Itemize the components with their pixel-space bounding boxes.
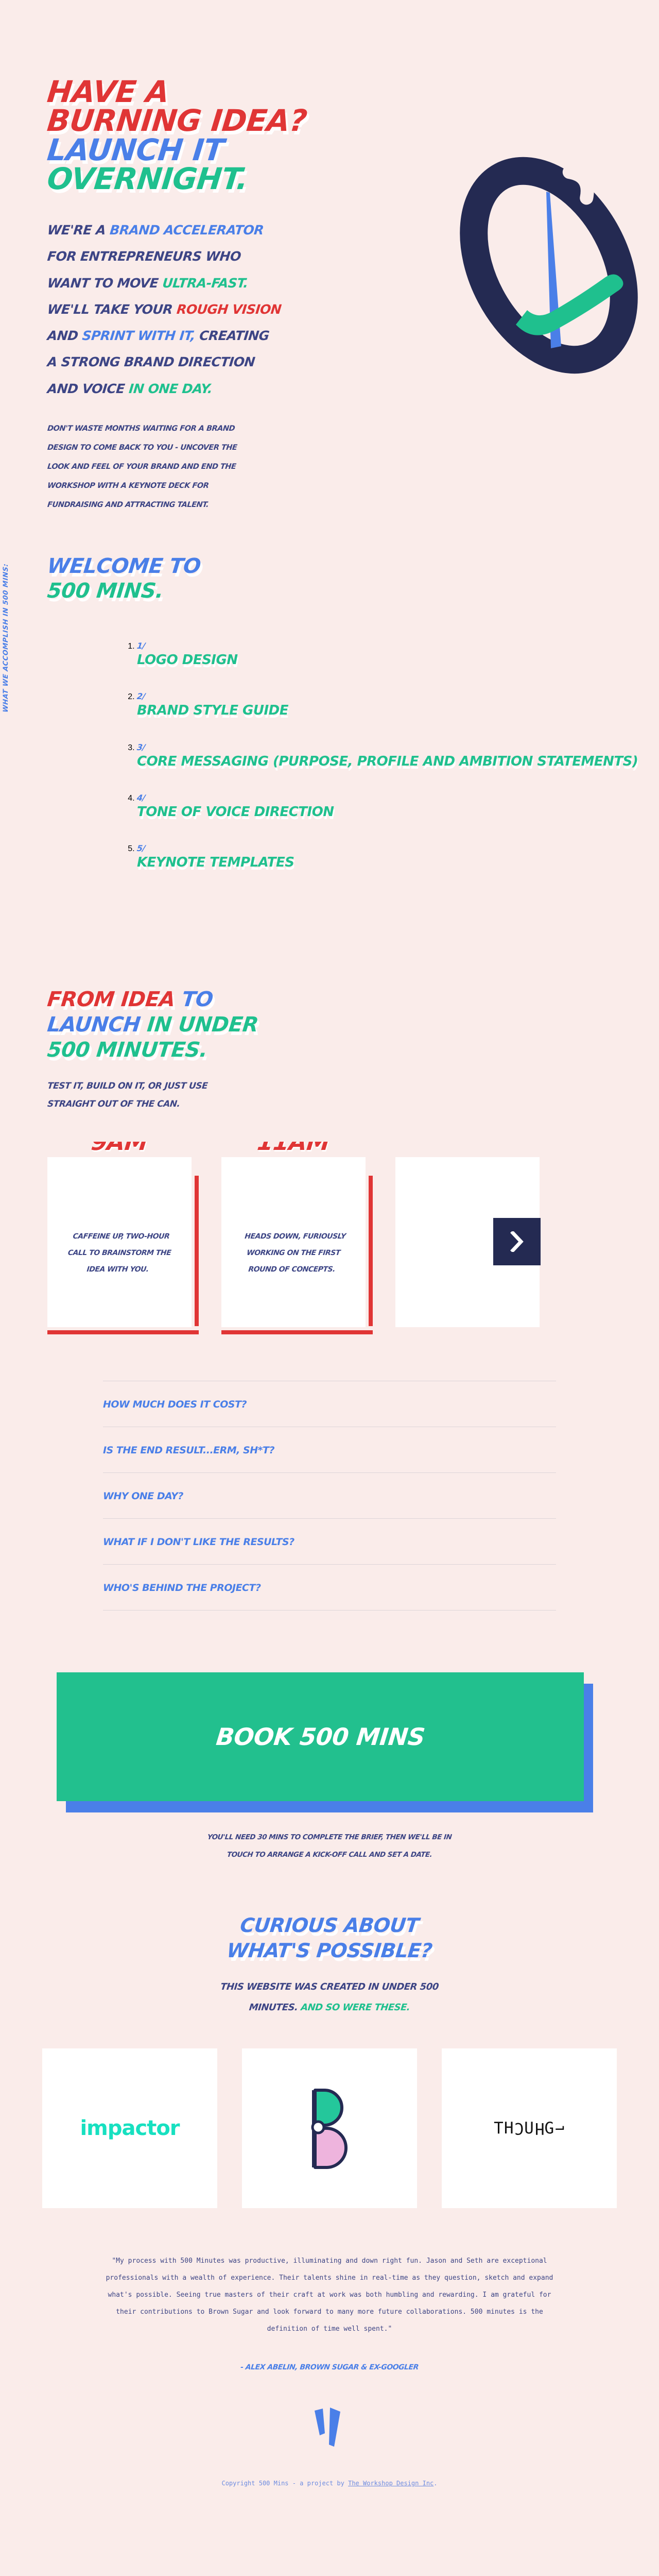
deliverable-label: BRAND STYLE GUIDE bbox=[137, 703, 288, 718]
faq-item[interactable]: WHY ONE DAY? bbox=[103, 1472, 556, 1518]
faq-question: IS THE END RESULT...ERM, SH*T? bbox=[103, 1445, 274, 1456]
page-title: HAVE A BURNING IDEA? LAUNCH IT OVERNIGHT… bbox=[0, 77, 659, 193]
welcome-line-2: 500 MINS. bbox=[46, 579, 659, 604]
deliverable-label: TONE OF VOICE DIRECTION bbox=[137, 804, 334, 820]
faq-question: WHY ONE DAY? bbox=[103, 1490, 183, 1502]
w-mark-logo bbox=[311, 2406, 348, 2453]
intro-segment: BRAND ACCELERATOR bbox=[109, 223, 265, 238]
cta-section: BOOK 500 MINS bbox=[0, 1654, 659, 1824]
intro-small-line: DON'T WASTE MONTHS WAITING FOR A BRAND bbox=[46, 419, 361, 438]
list-item: 3/ CORE MESSAGING (PURPOSE, PROFILE AND … bbox=[137, 742, 659, 770]
faq-item[interactable]: IS THE END RESULT...ERM, SH*T? bbox=[103, 1427, 556, 1472]
from-idea-line-3: 500 MINUTES. bbox=[46, 1038, 659, 1063]
intro-segment: WE'RE A bbox=[46, 223, 110, 238]
brown-sugar-b-logo bbox=[305, 2087, 354, 2170]
intro-line: AND SPRINT WITH IT, CREATING bbox=[46, 323, 659, 349]
curious-subcopy: THIS WEBSITE WAS CREATED IN UNDER 500 MI… bbox=[0, 1977, 659, 2019]
intro-paragraph: WE'RE A BRAND ACCELERATOR FOR ENTREPRENE… bbox=[47, 217, 659, 402]
intro-small-line: DESIGN TO COME BACK TO YOU - UNCOVER THE bbox=[46, 438, 361, 457]
from-idea-line-1b: TO bbox=[181, 988, 214, 1011]
deliverables-list: 1/ LOGO DESIGN 2/ BRAND STYLE GUIDE 3/ C… bbox=[137, 641, 659, 871]
faq-item[interactable]: HOW MUCH DOES IT COST? bbox=[103, 1381, 556, 1427]
faq-item[interactable]: WHO'S BEHIND THE PROJECT? bbox=[103, 1564, 556, 1611]
deliverable-label: CORE MESSAGING (PURPOSE, PROFILE AND AMB… bbox=[137, 754, 638, 769]
timeline-card-time: 9AM bbox=[46, 1142, 193, 1154]
chevron-right-icon bbox=[510, 1231, 524, 1252]
welcome-line-1: WELCOME TO bbox=[46, 554, 659, 579]
client-logo-grid: impactor THCUHG⌐ bbox=[0, 2048, 659, 2208]
workshop-design-link[interactable]: The Workshop Design Inc bbox=[348, 2480, 433, 2487]
curious-line-1: CURIOUS ABOUT bbox=[0, 1913, 659, 1938]
testimonial-section: "My process with 500 Minutes was product… bbox=[0, 2252, 659, 2372]
hero-line-1: HAVE A bbox=[46, 77, 659, 106]
list-item: 2/ BRAND STYLE GUIDE bbox=[137, 691, 659, 719]
timeline-card-time: 11AM bbox=[220, 1142, 367, 1154]
intro-copy: WE'RE A BRAND ACCELERATOR FOR ENTREPRENE… bbox=[0, 217, 659, 402]
list-item: 4/ TONE OF VOICE DIRECTION bbox=[137, 793, 659, 821]
from-idea-sub-line: TEST IT, BUILD ON IT, OR JUST USE bbox=[46, 1077, 659, 1096]
intro-segment: WE'LL TAKE YOUR bbox=[46, 302, 177, 317]
deliverable-number: 2/ bbox=[136, 691, 659, 701]
intro-segment: A STRONG BRAND DIRECTION bbox=[46, 354, 255, 369]
intro-line: WE'RE A BRAND ACCELERATOR bbox=[46, 217, 659, 243]
from-idea-subcopy: TEST IT, BUILD ON IT, OR JUST USE STRAIG… bbox=[0, 1077, 659, 1114]
deliverable-number: 1/ bbox=[136, 641, 659, 651]
logo-card-impactor[interactable]: impactor bbox=[42, 2048, 217, 2208]
cta-note-line: TOUCH TO ARRANGE A KICK-OFF CALL AND SET… bbox=[112, 1846, 547, 1864]
intro-line: AND VOICE IN ONE DAY. bbox=[46, 376, 659, 402]
logo-card-thought[interactable]: THCUHG⌐ bbox=[442, 2048, 617, 2208]
curious-sub-line-2: MINUTES. AND SO WERE THESE. bbox=[107, 1997, 552, 2019]
intro-segment: WANT TO MOVE bbox=[46, 276, 163, 291]
intro-segment: CREATING bbox=[195, 328, 270, 343]
from-idea-sub-line: STRAIGHT OUT OF THE CAN. bbox=[46, 1095, 659, 1114]
intro-line: A STRONG BRAND DIRECTION bbox=[46, 349, 659, 375]
welcome-heading: WELCOME TO 500 MINS. bbox=[0, 554, 659, 604]
intro-segment: FOR ENTREPRENEURS WHO bbox=[46, 249, 241, 264]
intro-segment: SPRINT WITH IT, bbox=[81, 328, 196, 343]
logo-card-brown-sugar[interactable] bbox=[242, 2048, 417, 2208]
thought-logo: THCUHG⌐ bbox=[494, 2119, 565, 2138]
book-500-mins-button[interactable]: BOOK 500 MINS bbox=[57, 1672, 584, 1801]
copyright-text: Copyright 500 Mins - a project by The Wo… bbox=[0, 2480, 659, 2487]
intro-line: WE'LL TAKE YOUR ROUGH VISION bbox=[46, 296, 659, 323]
faq-accordion: HOW MUCH DOES IT COST? IS THE END RESULT… bbox=[0, 1381, 659, 1611]
cta-label: BOOK 500 MINS bbox=[215, 1723, 426, 1751]
deliverable-number: 3/ bbox=[136, 742, 659, 752]
timeline-next-button[interactable] bbox=[493, 1218, 541, 1265]
intro-small-line: LOOK AND FEEL OF YOUR BRAND AND END THE bbox=[46, 457, 361, 477]
hero-line-2: BURNING IDEA? bbox=[46, 106, 659, 135]
curious-line-2: WHAT'S POSSIBLE? bbox=[0, 1938, 659, 1963]
from-idea-line-2: LAUNCH IN UNDER bbox=[46, 1012, 659, 1038]
faq-question: WHAT IF I DON'T LIKE THE RESULTS? bbox=[103, 1536, 294, 1548]
deliverables-vertical-label: WHAT WE ACCOMPLISH IN 500 MINS: bbox=[2, 563, 10, 713]
from-idea-line-2b: IN UNDER bbox=[146, 1013, 259, 1037]
testimonial-attribution: - ALEX ABELIN, BROWN SUGAR & EX-GOOGLER bbox=[101, 2363, 558, 2371]
from-idea-line-1: FROM IDEA TO bbox=[46, 987, 659, 1012]
faq-item[interactable]: WHAT IF I DON'T LIKE THE RESULTS? bbox=[103, 1518, 556, 1564]
intro-small-line: FUNDRAISING AND ATTRACTING TALENT. bbox=[46, 496, 361, 515]
deliverable-label: KEYNOTE TEMPLATES bbox=[137, 855, 294, 870]
cta-note: YOU'LL NEED 30 MINS TO COMPLETE THE BRIE… bbox=[0, 1829, 659, 1864]
intro-line: WANT TO MOVE ULTRA-FAST. bbox=[46, 270, 659, 296]
deliverables-section: WHAT WE ACCOMPLISH IN 500 MINS: 1/ LOGO … bbox=[0, 641, 659, 950]
curious-heading: CURIOUS ABOUT WHAT'S POSSIBLE? bbox=[0, 1913, 659, 1963]
timeline-carousel[interactable]: 9AM CAFFEINE UP, TWO-HOUR CALL TO BRAINS… bbox=[0, 1142, 659, 1348]
intro-segment: AND VOICE bbox=[46, 381, 129, 396]
curious-sub-line-2a: MINUTES. bbox=[249, 2002, 302, 2013]
copyright-prefix: Copyright 500 Mins - a project by bbox=[221, 2480, 348, 2487]
intro-segment: IN ONE DAY. bbox=[128, 381, 213, 396]
timeline-card-2pm[interactable]: 2PM bbox=[395, 1157, 659, 1327]
intro-small-line: WORKSHOP WITH A KEYNOTE DECK FOR bbox=[46, 477, 361, 496]
hero-line-3: LAUNCH IT bbox=[46, 135, 659, 164]
deliverable-number: 5/ bbox=[136, 843, 659, 853]
faq-question: HOW MUCH DOES IT COST? bbox=[103, 1399, 247, 1410]
hero-section: HAVE A BURNING IDEA? LAUNCH IT OVERNIGHT… bbox=[0, 0, 659, 193]
timeline-card-9am[interactable]: 9AM CAFFEINE UP, TWO-HOUR CALL TO BRAINS… bbox=[47, 1157, 192, 1327]
list-item: 1/ LOGO DESIGN bbox=[137, 641, 659, 669]
page-footer: Copyright 500 Mins - a project by The Wo… bbox=[0, 2406, 659, 2507]
timeline-card-11am[interactable]: 11AM HEADS DOWN, FURIOUSLY WORKING ON TH… bbox=[221, 1157, 366, 1327]
intro-line: FOR ENTREPRENEURS WHO bbox=[46, 243, 659, 269]
intro-secondary-copy: DON'T WASTE MONTHS WAITING FOR A BRAND D… bbox=[0, 419, 360, 515]
impactor-logo: impactor bbox=[80, 2116, 179, 2140]
faq-question: WHO'S BEHIND THE PROJECT? bbox=[103, 1582, 261, 1594]
from-idea-line-1a: FROM IDEA bbox=[46, 988, 183, 1011]
curious-sub-line-2b: AND SO WERE THESE. bbox=[300, 2002, 410, 2013]
cta-note-line: YOU'LL NEED 30 MINS TO COMPLETE THE BRIE… bbox=[112, 1829, 547, 1846]
timeline-card-body: CAFFEINE UP, TWO-HOUR CALL TO BRAINSTORM… bbox=[60, 1228, 179, 1278]
deliverable-number: 4/ bbox=[136, 793, 659, 803]
from-idea-line-2a: LAUNCH bbox=[46, 1013, 149, 1037]
copyright-suffix: . bbox=[433, 2480, 437, 2487]
intro-segment: ROUGH VISION bbox=[176, 302, 282, 317]
list-item: 5/ KEYNOTE TEMPLATES bbox=[137, 843, 659, 871]
testimonial-quote: "My process with 500 Minutes was product… bbox=[102, 2252, 557, 2338]
intro-segment: ULTRA-FAST. bbox=[162, 276, 249, 291]
hero-line-4: OVERNIGHT. bbox=[46, 164, 659, 193]
from-idea-heading: FROM IDEA TO LAUNCH IN UNDER 500 MINUTES… bbox=[0, 987, 659, 1062]
curious-sub-line-1: THIS WEBSITE WAS CREATED IN UNDER 500 bbox=[107, 1977, 552, 1998]
intro-segment: AND bbox=[46, 328, 83, 343]
timeline-card-body: HEADS DOWN, FURIOUSLY WORKING ON THE FIR… bbox=[234, 1228, 353, 1278]
deliverable-label: LOGO DESIGN bbox=[137, 652, 238, 668]
